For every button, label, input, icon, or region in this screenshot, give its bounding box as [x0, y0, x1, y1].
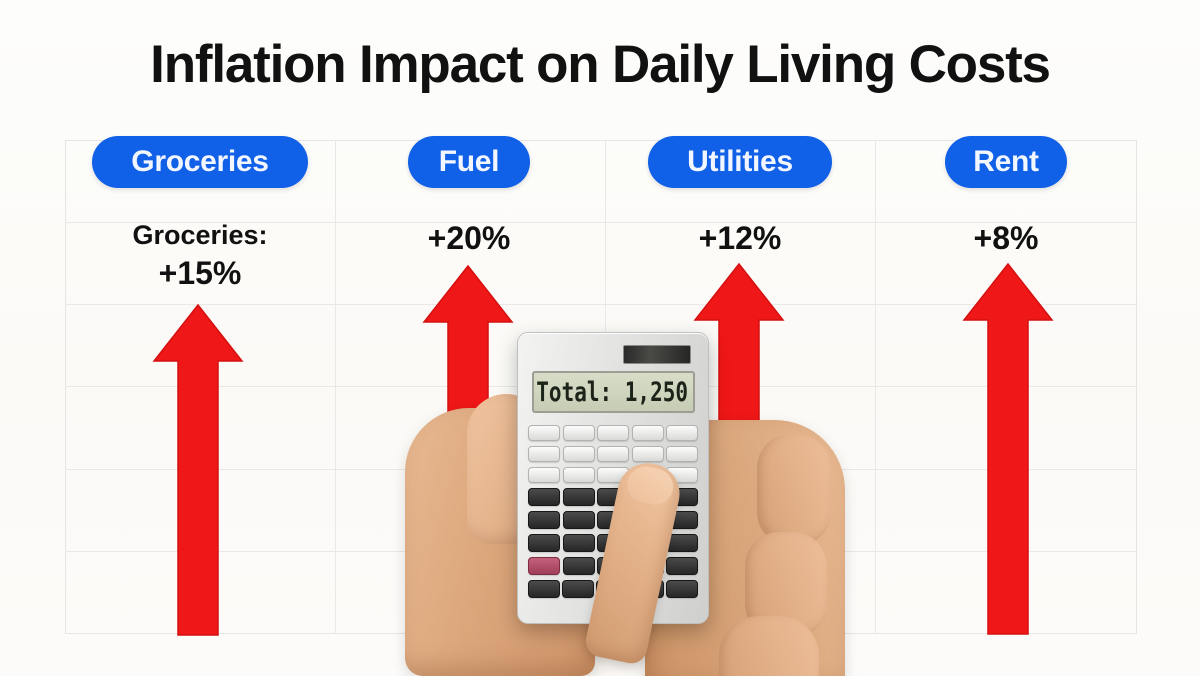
up-arrow-groceries	[152, 303, 244, 637]
calc-key-equals[interactable]	[666, 580, 698, 598]
value-block-rent: +8%	[928, 218, 1084, 259]
calc-key[interactable]	[528, 446, 560, 462]
value-caption: Groceries:	[78, 218, 322, 253]
value-percent: +15%	[78, 253, 322, 294]
calc-key[interactable]	[666, 425, 698, 441]
calculator-display-value: Total: 1,250	[536, 377, 688, 407]
keypad-row	[528, 446, 698, 462]
calc-key[interactable]	[528, 534, 560, 552]
calc-key[interactable]	[666, 446, 698, 462]
right-finger	[719, 616, 819, 676]
hands-with-calculator-photo: Total: 1,250	[405, 320, 825, 676]
calc-key[interactable]	[563, 425, 595, 441]
calc-key[interactable]	[666, 557, 698, 575]
value-block-fuel: +20%	[390, 218, 548, 259]
calc-key[interactable]	[528, 488, 560, 506]
calc-key[interactable]	[632, 446, 664, 462]
calc-key[interactable]	[597, 425, 629, 441]
calc-key[interactable]	[528, 425, 560, 441]
category-pill-rent[interactable]: Rent	[945, 136, 1067, 188]
calc-key[interactable]	[563, 511, 595, 529]
calc-key[interactable]	[597, 446, 629, 462]
calc-key[interactable]	[563, 534, 595, 552]
calc-key[interactable]	[563, 467, 595, 483]
infographic-canvas: Inflation Impact on Daily Living Costs G…	[0, 0, 1200, 676]
category-pill-utilities[interactable]: Utilities	[648, 136, 832, 188]
calc-key[interactable]	[563, 557, 595, 575]
page-title: Inflation Impact on Daily Living Costs	[0, 34, 1200, 95]
up-arrow-rent	[962, 262, 1054, 636]
category-pill-label: Groceries	[131, 145, 268, 179]
value-percent: +12%	[660, 218, 820, 259]
calc-key[interactable]	[528, 511, 560, 529]
calc-key[interactable]	[632, 425, 664, 441]
category-pill-label: Fuel	[439, 145, 499, 179]
category-pill-fuel[interactable]: Fuel	[408, 136, 530, 188]
category-pill-label: Utilities	[687, 145, 793, 179]
grid-vline	[335, 140, 336, 634]
calc-key-clear[interactable]	[528, 557, 560, 575]
category-pill-label: Rent	[973, 145, 1038, 179]
value-percent: +20%	[390, 218, 548, 259]
calc-key[interactable]	[563, 488, 595, 506]
calculator-display: Total: 1,250	[532, 371, 695, 413]
category-pill-groceries[interactable]: Groceries	[92, 136, 308, 188]
value-percent: +8%	[928, 218, 1084, 259]
solar-panel-icon	[623, 345, 691, 364]
calc-key[interactable]	[528, 467, 560, 483]
right-finger	[757, 434, 831, 546]
calc-key[interactable]	[563, 446, 595, 462]
calc-key[interactable]	[562, 580, 594, 598]
grid-vline	[875, 140, 876, 634]
value-block-groceries: Groceries: +15%	[78, 218, 322, 294]
calc-key[interactable]	[528, 580, 560, 598]
value-block-utilities: +12%	[660, 218, 820, 259]
keypad-row	[528, 425, 698, 441]
